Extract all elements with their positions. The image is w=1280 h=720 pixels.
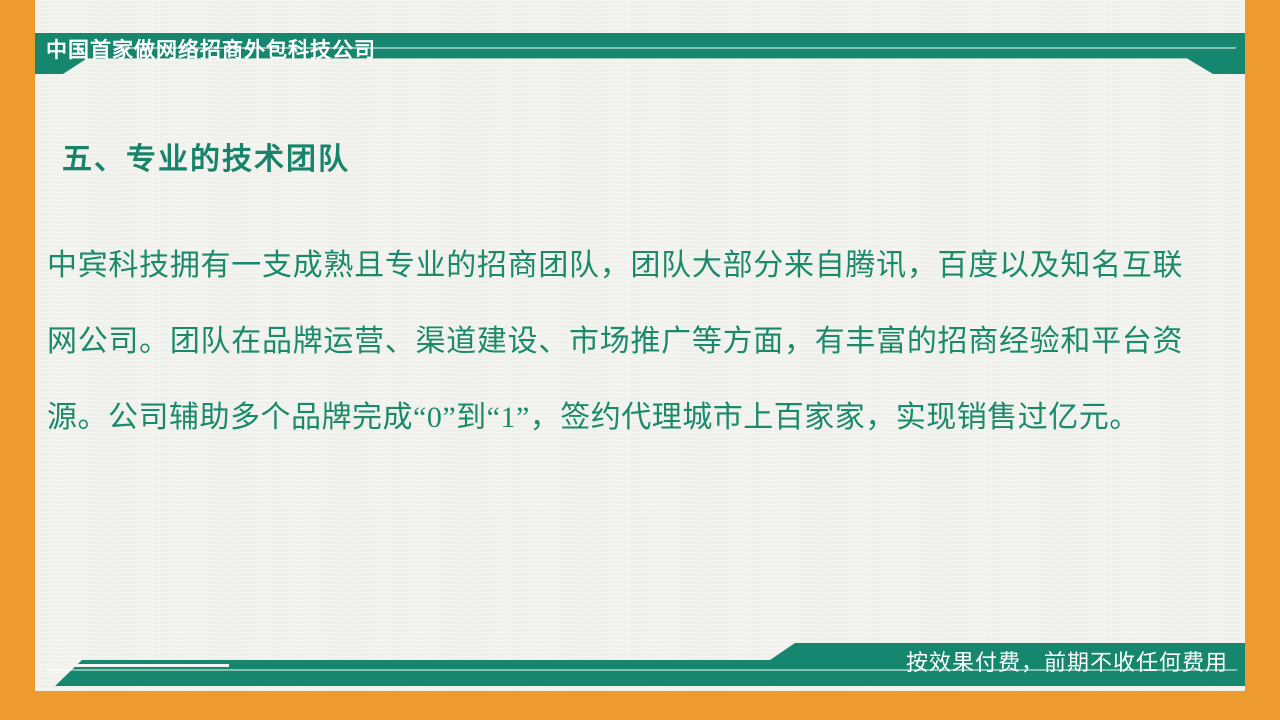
- slide-canvas: 中国首家做网络招商外包科技公司 五、专业的技术团队 中宾科技拥有一支成熟且专业的…: [0, 0, 1280, 720]
- footer-tagline: 按效果付费，前期不收任何费用: [906, 646, 1228, 680]
- footer-accent-underline: [47, 664, 229, 667]
- header-title: 中国首家做网络招商外包科技公司: [46, 34, 376, 68]
- body-paragraph: 中宾科技拥有一支成熟且专业的招商团队，团队大部分来自腾讯，百度以及知名互联网公司…: [47, 228, 1183, 456]
- section-heading: 五、专业的技术团队: [62, 134, 350, 178]
